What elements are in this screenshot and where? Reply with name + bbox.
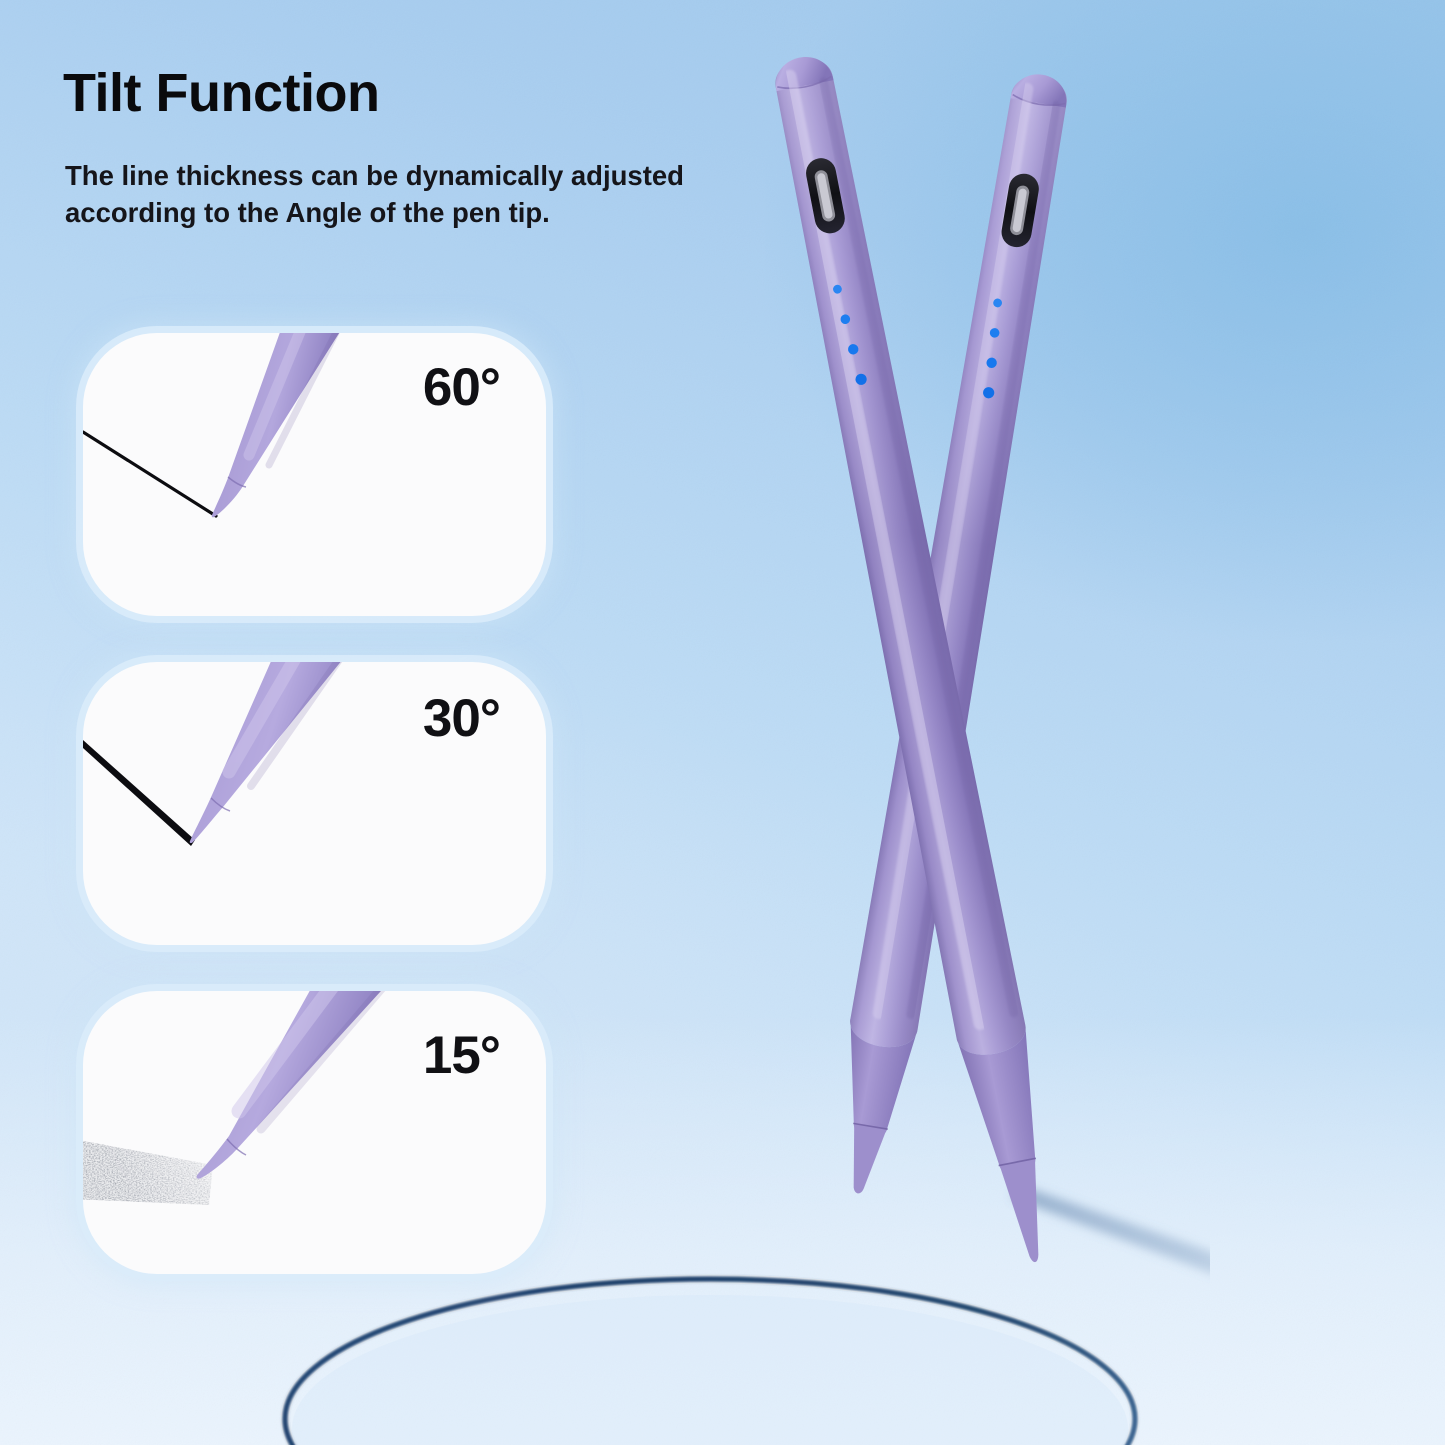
stylus-pair-illustration	[690, 0, 1210, 1445]
tilt-angle-label-15: 15°	[423, 1029, 500, 1082]
page-description: The line thickness can be dynamically ad…	[65, 158, 690, 231]
tilt-card-60: 60°	[83, 333, 546, 616]
tilt-angle-label-60: 60°	[423, 361, 500, 414]
page-title: Tilt Function	[63, 66, 379, 121]
tilt-card-15: 15°	[83, 991, 546, 1274]
tilt-card-30: 30°	[83, 662, 546, 945]
pedestal-platform	[255, 1251, 1165, 1445]
tilt-angle-label-30: 30°	[423, 692, 500, 745]
product-feature-graphic: Tilt Function The line thickness can be …	[0, 0, 1445, 1445]
